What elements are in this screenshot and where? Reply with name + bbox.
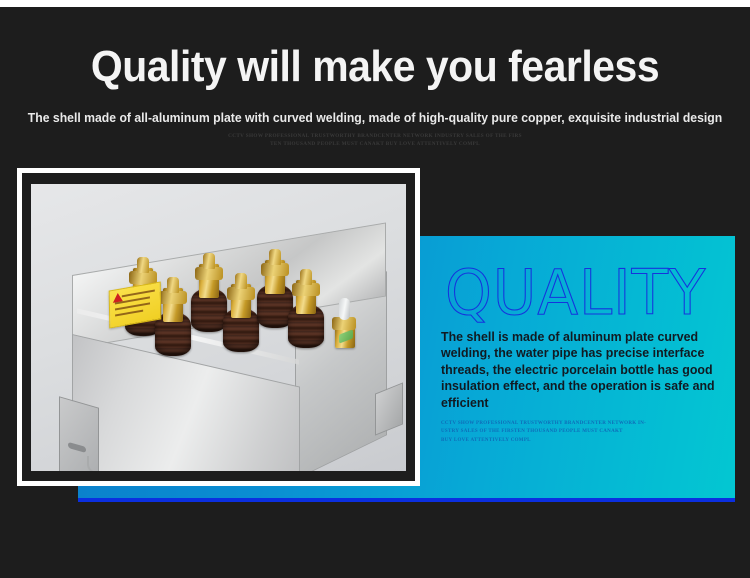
feature-panel-title: QUALITY <box>445 262 706 324</box>
feature-panel-microcopy: CCTV SHOW PROFESSIONAL TRUSTWORTHY BRAND… <box>441 420 691 445</box>
header-microcopy: CCTV SHOW PROFESSIONAL TRUSTWORTHY BRAND… <box>0 133 750 148</box>
terminal-stud <box>235 273 247 289</box>
terminal-stud <box>203 253 215 269</box>
ground-wire <box>87 456 121 471</box>
page-title: Quality will make you fearless <box>26 42 724 92</box>
terminal-stud <box>269 249 281 265</box>
product-photo-frame <box>17 168 420 486</box>
header-microcopy-line-1: CCTV SHOW PROFESSIONAL TRUSTWORTHY BRAND… <box>0 133 750 141</box>
product-photo <box>31 184 406 471</box>
terminal-stud <box>167 277 179 293</box>
feature-microcopy-line-1: CCTV SHOW PROFESSIONAL TRUSTWORTHY BRAND… <box>441 420 691 428</box>
feature-microcopy-line-3: BUY LOVE ATTENTIVELY COMPL <box>441 437 691 445</box>
header-microcopy-line-2: TEN THOUSAND PEOPLE MUST CANAKT BUY LOVE… <box>0 141 750 149</box>
terminal-post <box>191 254 227 332</box>
terminal-stud <box>300 269 312 285</box>
feature-panel-body: The shell is made of aluminum plate curv… <box>441 329 725 411</box>
top-white-strip <box>0 0 750 7</box>
feature-microcopy-line-2: USTRY SALES OF THE FIRSTEN THOUSAND PEOP… <box>441 428 691 436</box>
page-subtitle: The shell made of all-aluminum plate wit… <box>11 110 739 127</box>
terminal-post <box>288 270 324 348</box>
feature-panel-underline <box>78 498 735 502</box>
product-illustration <box>31 184 406 471</box>
glass-bushing <box>339 298 350 320</box>
promo-banner: Quality will make you fearless The shell… <box>0 0 750 578</box>
label-text-line <box>115 310 143 317</box>
terminal-post <box>223 274 259 352</box>
terminal-stud <box>137 257 149 273</box>
